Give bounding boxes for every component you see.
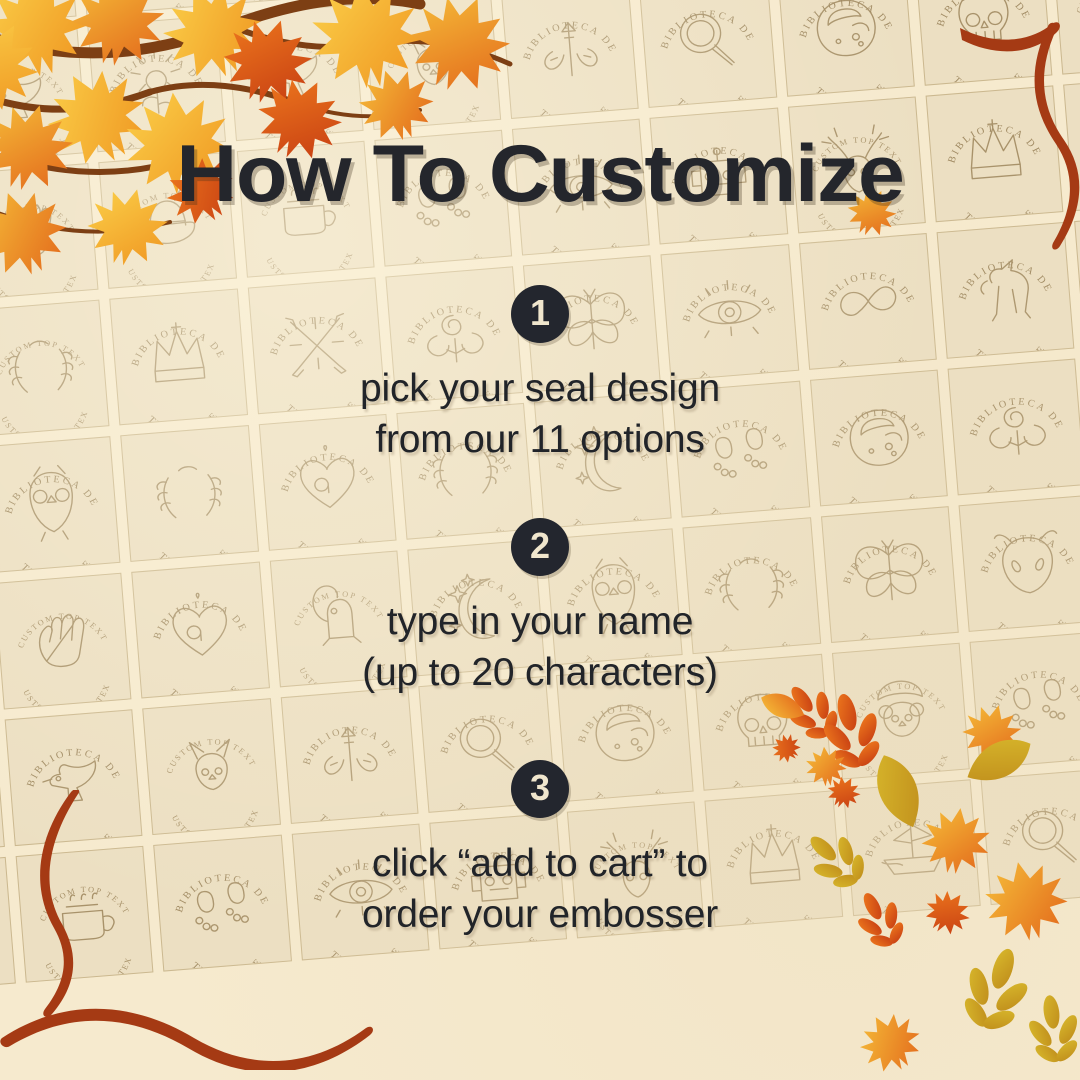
step-1-badge: 1: [511, 285, 569, 343]
step-1-line-1: pick your seal design: [360, 363, 720, 414]
step-3-badge: 3: [511, 760, 569, 818]
step-2-line-2: (up to 20 characters): [362, 647, 718, 698]
step-2-line-1: type in your name: [362, 596, 718, 647]
poster-canvas: BIBLIOTECA DETU NOMBREBIBLIOTECA DETU NO…: [0, 0, 1080, 1080]
content-layer: How To Customize 1 pick your seal design…: [0, 0, 1080, 1080]
step-1-text: pick your seal design from our 11 option…: [360, 363, 720, 466]
step-2: 2 type in your name (up to 20 characters…: [0, 518, 1080, 699]
step-3-line-2: order your embosser: [362, 889, 718, 940]
step-3: 3 click “add to cart” to order your embo…: [0, 760, 1080, 941]
step-2-badge: 2: [511, 518, 569, 576]
step-1-line-2: from our 11 options: [360, 414, 720, 465]
page-title: How To Customize: [0, 128, 1080, 221]
step-2-text: type in your name (up to 20 characters): [362, 596, 718, 699]
step-3-text: click “add to cart” to order your emboss…: [362, 838, 718, 941]
step-1: 1 pick your seal design from our 11 opti…: [0, 285, 1080, 466]
step-3-line-1: click “add to cart” to: [362, 838, 718, 889]
